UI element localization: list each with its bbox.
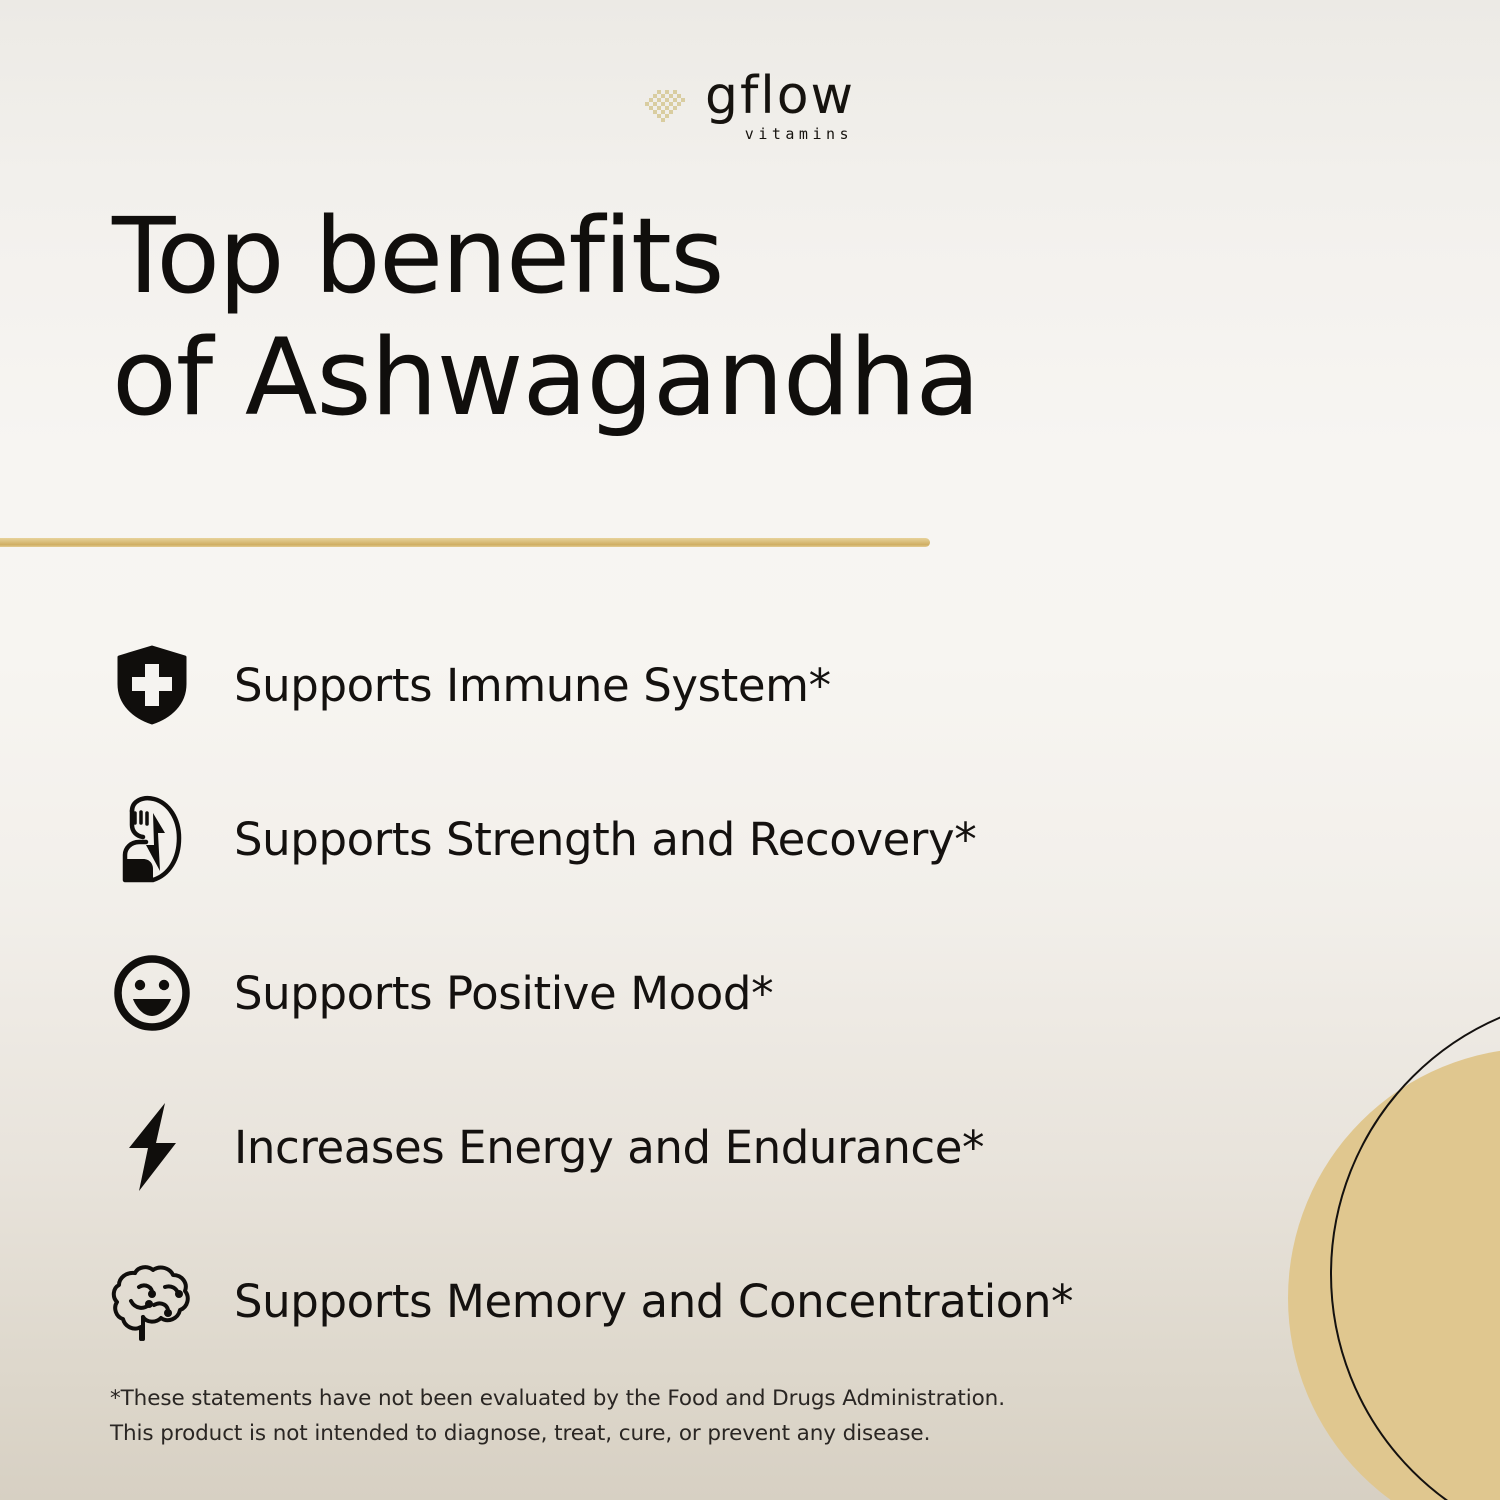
brand-name: gflow bbox=[705, 72, 855, 121]
page-title-line-1: Top benefits bbox=[112, 196, 1420, 317]
benefits-list: Supports Immune System* Supports Strengt… bbox=[100, 608, 1440, 1378]
page-title: Top benefits of Ashwagandha bbox=[112, 196, 1420, 440]
list-item: Supports Strength and Recovery* bbox=[100, 762, 1440, 916]
disclaimer-line-1: *These statements have not been evaluate… bbox=[110, 1382, 1005, 1417]
list-item: Increases Energy and Endurance* bbox=[100, 1070, 1440, 1224]
disclaimer-text: *These statements have not been evaluate… bbox=[110, 1382, 1005, 1452]
list-item: Supports Positive Mood* bbox=[100, 916, 1440, 1070]
list-item: Supports Memory and Concentration* bbox=[100, 1224, 1440, 1378]
shield-cross-icon bbox=[100, 644, 204, 726]
list-item: Supports Immune System* bbox=[100, 608, 1440, 762]
list-item-label: Supports Memory and Concentration* bbox=[234, 1275, 1073, 1328]
list-item-label: Increases Energy and Endurance* bbox=[234, 1121, 984, 1174]
flexed-bicep-icon bbox=[100, 793, 204, 885]
list-item-label: Supports Positive Mood* bbox=[234, 967, 773, 1020]
page-title-line-2: of Ashwagandha bbox=[112, 317, 1420, 440]
halftone-chevron-icon bbox=[645, 86, 689, 131]
disclaimer-line-2: This product is not intended to diagnose… bbox=[110, 1417, 1005, 1452]
lightning-bolt-icon bbox=[100, 1101, 204, 1193]
gold-divider bbox=[0, 538, 930, 547]
brand-logo: gflow vitamins bbox=[0, 72, 1500, 143]
list-item-label: Supports Immune System* bbox=[234, 659, 831, 712]
smiley-face-icon bbox=[100, 954, 204, 1032]
brand-tagline: vitamins bbox=[745, 125, 853, 143]
brain-icon bbox=[100, 1261, 204, 1341]
list-item-label: Supports Strength and Recovery* bbox=[234, 813, 976, 866]
